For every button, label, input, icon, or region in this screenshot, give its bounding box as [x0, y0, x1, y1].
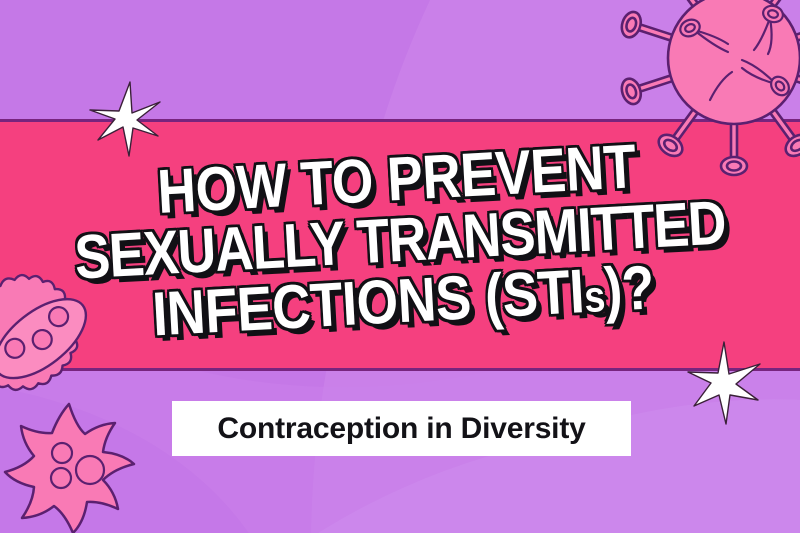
virus-icon [598, 0, 800, 194]
subtitle-box: Contraception in Diversity [172, 401, 631, 456]
sparkle-star-icon [680, 338, 768, 426]
sparkle-star-icon [88, 80, 164, 158]
subtitle-text: Contraception in Diversity [217, 412, 585, 446]
bacterium-rod-icon [0, 268, 116, 408]
microbe-amoeba-icon [6, 398, 136, 528]
poster-canvas: HOW TO PREVENT SEXUALLY TRANSMITTED INFE… [0, 0, 800, 533]
